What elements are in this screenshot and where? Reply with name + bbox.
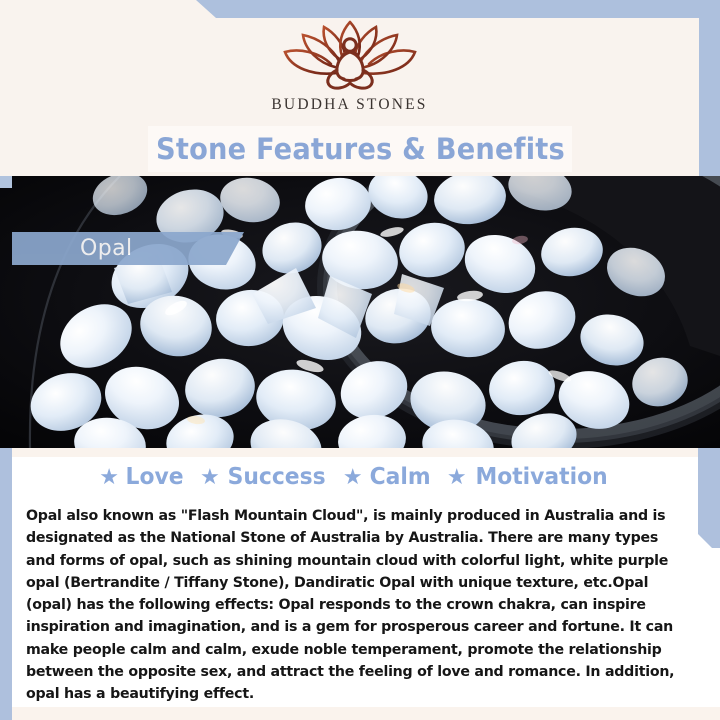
stone-info-card: BUDDHA STONES Stone Features & Benefits	[0, 0, 720, 720]
benefit-label: Success	[227, 464, 325, 490]
star-icon: ★	[447, 466, 467, 488]
star-icon: ★	[343, 466, 363, 488]
lotus-meditation-figure-icon	[275, 18, 425, 94]
benefits-row: ★ Love ★ Success ★ Calm ★ Motivation	[12, 464, 698, 490]
stone-name-badge: Opal	[12, 232, 244, 265]
page-title-plate: Stone Features & Benefits	[148, 126, 572, 172]
benefit-label: Calm	[369, 464, 430, 490]
star-icon: ★	[99, 466, 119, 488]
benefit-label: Love	[125, 464, 183, 490]
page-title: Stone Features & Benefits	[156, 132, 565, 166]
photo-left-accent	[0, 176, 12, 188]
benefit-item-calm: ★ Calm	[343, 464, 432, 490]
description-bottom-divider	[12, 707, 720, 720]
benefit-item-success: ★ Success	[200, 464, 328, 490]
benefit-item-motivation: ★ Motivation	[447, 464, 611, 490]
description-left-accent	[0, 448, 12, 720]
description-top-divider	[12, 448, 698, 457]
benefit-item-love: ★ Love	[99, 464, 185, 490]
benefit-label: Motivation	[475, 464, 607, 490]
star-icon: ★	[200, 466, 220, 488]
description-text: Opal also known as "Flash Mountain Cloud…	[26, 505, 684, 706]
brand-logo: BUDDHA STONES	[0, 18, 699, 114]
header-right-accent-bar	[699, 0, 720, 176]
header-top-accent-bar	[0, 0, 720, 18]
header-section: BUDDHA STONES Stone Features & Benefits	[0, 0, 720, 176]
stone-name: Opal	[80, 236, 132, 261]
description-right-accent	[698, 448, 720, 548]
brand-name: BUDDHA STONES	[271, 96, 427, 114]
stone-photo	[0, 176, 720, 448]
